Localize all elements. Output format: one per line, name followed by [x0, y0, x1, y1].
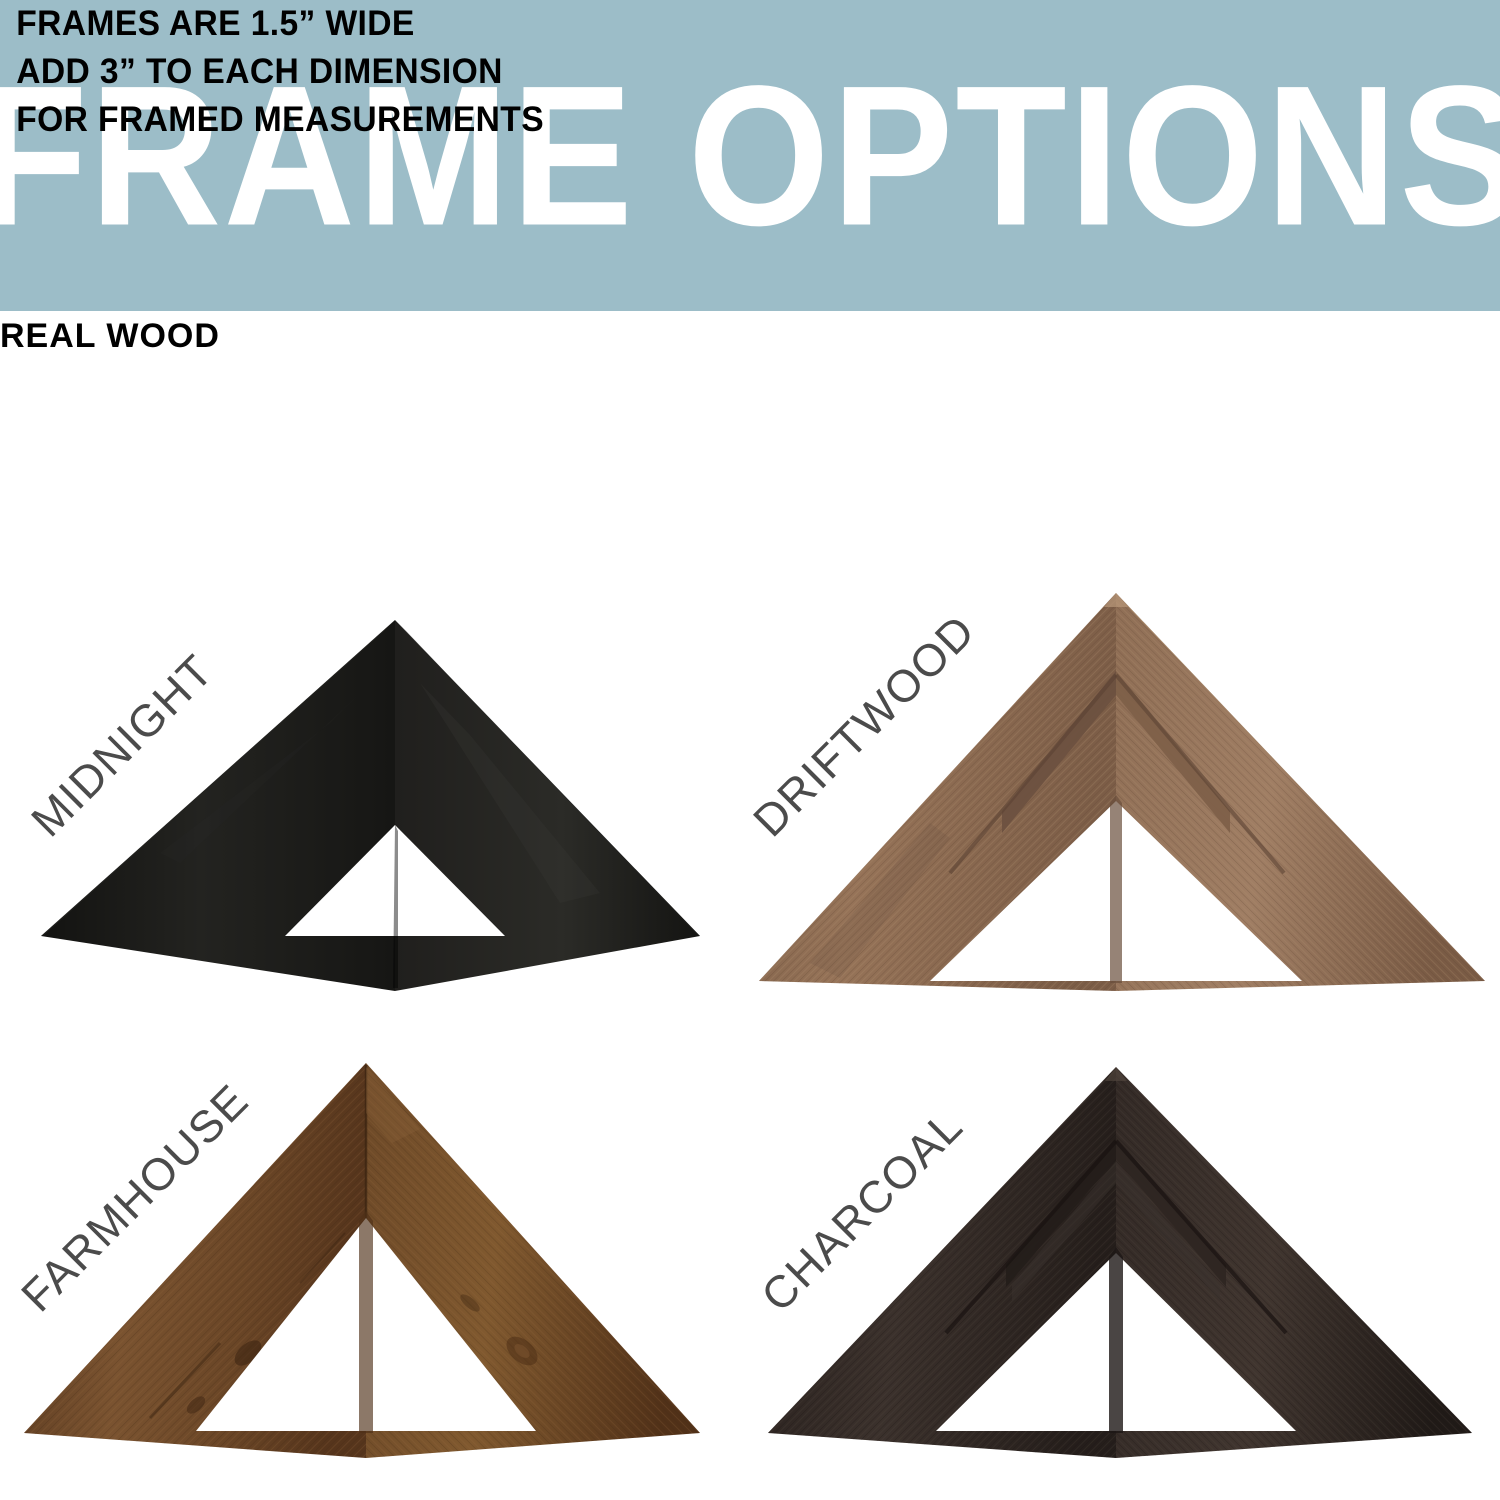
frame-sample-farmhouse[interactable]: FARMHOUSE: [0, 1033, 750, 1500]
midnight-frame-corner-icon: [0, 563, 750, 1033]
frame-sample-midnight[interactable]: MIDNIGHT: [0, 563, 750, 1033]
frame-sample-charcoal[interactable]: CHARCOAL: [750, 1033, 1500, 1500]
frame-sample-driftwood[interactable]: DRIFTWOOD: [750, 563, 1500, 1033]
farmhouse-frame-corner-icon: [0, 1033, 750, 1500]
measurements-line-1: FRAMES ARE 1.5” WIDE: [16, 0, 796, 48]
charcoal-frame-corner-icon: [750, 1033, 1500, 1500]
frame-samples-grid: MIDNIGHT: [0, 563, 1500, 1500]
measurements-line-3: FOR FRAMED MEASUREMENTS: [16, 96, 796, 144]
driftwood-frame-corner-icon: [750, 563, 1500, 1033]
quality-line-3: REAL WOOD: [0, 312, 515, 360]
measurements-line-2: ADD 3” TO EACH DIMENSION: [16, 48, 796, 96]
